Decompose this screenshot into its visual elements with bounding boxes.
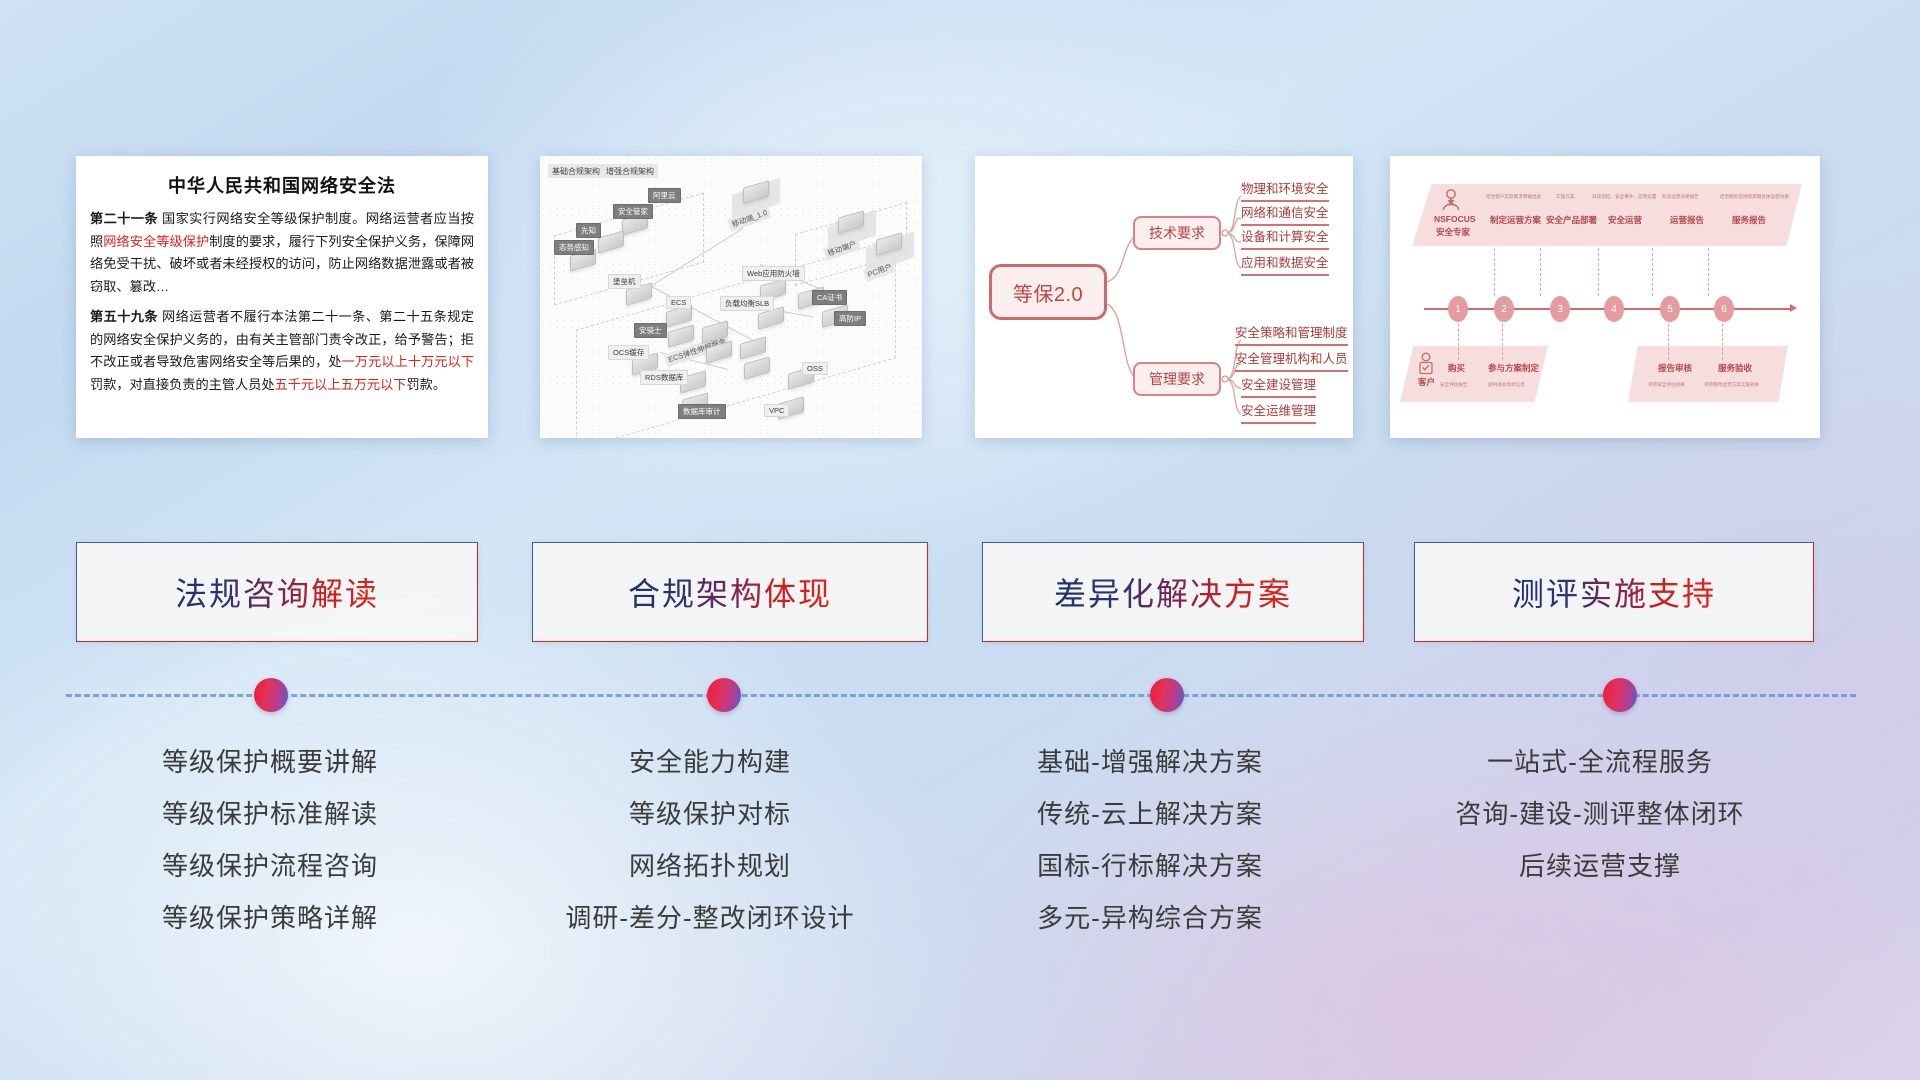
nsfocus-step-dot-6[interactable]: 6 — [1714, 296, 1734, 322]
slide-canvas: 中华人民共和国网络安全法 第二十一条 国家实行网络安全等级保护制度。网络运营者应… — [0, 0, 1920, 1080]
list-item: 安全能力构建 — [500, 736, 920, 788]
law-run-2d-highlight: 五千元以上五万元以下 — [275, 377, 407, 392]
mindmap-card[interactable]: 等保2.0 技术要求 管理要求 物理和环境安全 网络和通信安全 设备和计算安全 … — [975, 156, 1353, 438]
nsfocus-top-title-1: 制定运营方案 — [1490, 214, 1541, 226]
list-item: 咨询-建设-测评整体闭环 — [1380, 788, 1820, 840]
timeline-dot-3[interactable] — [1150, 678, 1184, 712]
nsfocus-customer-band-right — [1628, 346, 1788, 402]
nsfocus-provider-role: 安全专家 — [1436, 226, 1470, 238]
nsfocus-stem-top-5 — [1708, 248, 1709, 296]
architecture-diagram: 基础合规架构 增强合规架构 移动端_1.0 移动端户 — [540, 156, 922, 438]
mindmap-branch-technical: 技术要求 — [1133, 216, 1221, 250]
header-label-2: 合规架构体现 — [628, 569, 832, 615]
security-expert-icon — [1440, 188, 1462, 212]
nsfocus-top-sub-3: 日常巡检、安全事件、应用处置 — [1592, 194, 1656, 200]
nsfocus-top-title-4: 运营报告 — [1670, 214, 1704, 226]
mindmap-leaf-tech-2: 网络和通信安全 — [1241, 206, 1329, 226]
nsfocus-bottom-sub-4: 评审整改运营方案实施效果 — [1704, 382, 1759, 388]
timeline-dot-2[interactable] — [707, 678, 741, 712]
nsfocus-stem-bottom-2 — [1502, 324, 1503, 360]
arch-node-waf: Web应用防火墙 — [742, 266, 805, 281]
nsfocus-step-dot-4[interactable]: 4 — [1604, 296, 1624, 322]
law-run-2e: 罚款。 — [407, 377, 447, 392]
mindmap-leaf-tech-4: 应用和数据安全 — [1241, 256, 1329, 276]
list-item: 等级保护策略详解 — [60, 892, 480, 944]
list-item: 等级保护流程咨询 — [60, 840, 480, 892]
nsfocus-provider-name: NSFOCUS — [1434, 214, 1476, 224]
list-item: 一站式-全流程服务 — [1380, 736, 1820, 788]
feature-column-2: 安全能力构建 等级保护对标 网络拓扑规划 调研-差分-整改闭环设计 — [500, 736, 920, 944]
timeline-strip — [0, 668, 1920, 728]
arch-node-highdefip: 高防IP — [834, 311, 866, 326]
nsfocus-bottom-title-3: 报告审核 — [1658, 362, 1692, 374]
nsfocus-stem-bottom-1 — [1458, 324, 1459, 360]
law-card[interactable]: 中华人民共和国网络安全法 第二十一条 国家实行网络安全等级保护制度。网络运营者应… — [76, 156, 488, 438]
list-item: 调研-差分-整改闭环设计 — [500, 892, 920, 944]
nsfocus-bottom-title-2: 参与方案制定 — [1488, 362, 1539, 374]
arch-tab-enhanced[interactable]: 增强合规架构 — [602, 164, 658, 178]
nsfocus-axis-arrow — [1790, 304, 1797, 312]
feature-columns-row: 等级保护概要讲解 等级保护标准解读 等级保护流程咨询 等级保护策略详解 安全能力… — [0, 736, 1920, 1036]
law-article-1: 第二十一条 — [90, 211, 158, 226]
arch-node-rds: RDS数据库 — [640, 370, 688, 385]
nsfocus-top-sub-1: 结合客户实际需求明确出具 — [1486, 194, 1541, 200]
timeline-dot-1[interactable] — [254, 678, 288, 712]
nsfocus-bottom-sub-1: 安全评估报告 — [1440, 382, 1468, 388]
arch-node-situation: 态势感知 — [554, 240, 594, 255]
section-headers-row: 法规咨询解读 合规架构体现 差异化解决方案 测评实施支持 — [0, 542, 1920, 646]
list-item: 后续运营支撑 — [1380, 840, 1820, 892]
nsfocus-bottom-title-1: 购买 — [1448, 362, 1465, 374]
feature-column-4: 一站式-全流程服务 咨询-建设-测评整体闭环 后续运营支撑 — [1380, 736, 1820, 892]
nsfocus-stem-top-2 — [1540, 248, 1541, 296]
law-article-2: 第五十九条 — [90, 309, 158, 324]
feature-column-3: 基础-增强解决方案 传统-云上解决方案 国标-行标解决方案 多元-异构综合方案 — [940, 736, 1360, 944]
header-box-compliance-architecture[interactable]: 合规架构体现 — [532, 542, 928, 642]
nsfocus-top-sub-5: 结合服务范围等周期总体运营效果 — [1720, 194, 1789, 200]
list-item: 等级保护对标 — [500, 788, 920, 840]
mindmap-diagram: 等保2.0 技术要求 管理要求 物理和环境安全 网络和通信安全 设备和计算安全 … — [975, 156, 1353, 438]
nsfocus-bottom-title-4: 服务验收 — [1718, 362, 1752, 374]
mindmap-leaf-mgmt-4: 安全运维管理 — [1241, 404, 1316, 424]
nsfocus-top-title-2: 安全产品部署 — [1546, 214, 1597, 226]
law-run-1b-highlight: 网络安全等级保护 — [103, 234, 209, 249]
header-box-differentiated-solution[interactable]: 差异化解决方案 — [982, 542, 1364, 642]
nsfocus-stem-top-3 — [1598, 248, 1599, 296]
nsfocus-step-dot-2[interactable]: 2 — [1494, 296, 1514, 322]
header-label-3: 差异化解决方案 — [1054, 569, 1292, 615]
nsfocus-customer-role: 客户 — [1418, 376, 1435, 388]
mindmap-branch-management: 管理要求 — [1133, 362, 1221, 396]
list-item: 基础-增强解决方案 — [940, 736, 1360, 788]
nsfocus-bottom-sub-3: 评审安全评估效果 — [1648, 382, 1685, 388]
arch-node-xianzhi: 先知 — [576, 223, 601, 238]
law-card-body: 第二十一条 国家实行网络安全等级保护制度。网络运营者应当按照网络安全等级保护制度… — [76, 208, 488, 397]
list-item: 等级保护标准解读 — [60, 788, 480, 840]
screenshot-cards-row: 中华人民共和国网络安全法 第二十一条 国家实行网络安全等级保护制度。网络运营者应… — [0, 148, 1920, 438]
mindmap-leaf-tech-1: 物理和环境安全 — [1241, 182, 1329, 202]
mindmap-leaf-mgmt-2: 安全管理机构和人员 — [1235, 352, 1348, 372]
list-item: 多元-异构综合方案 — [940, 892, 1360, 944]
arch-node-dbaudit: 数据库审计 — [678, 404, 726, 419]
list-item: 网络拓扑规划 — [500, 840, 920, 892]
architecture-card[interactable]: 基础合规架构 增强合规架构 移动端_1.0 移动端户 — [540, 156, 922, 438]
feature-column-1: 等级保护概要讲解 等级保护标准解读 等级保护流程咨询 等级保护策略详解 — [60, 736, 480, 944]
nsfocus-top-title-5: 服务报告 — [1732, 214, 1766, 226]
arch-node-bastion: 堡垒机 — [608, 274, 641, 289]
nsfocus-bottom-sub-2: 提供基本现状信息 — [1488, 382, 1525, 388]
arch-node-slb: 负载均衡SLB — [720, 296, 774, 311]
arch-node-aliyun: 阿里云 — [648, 188, 681, 203]
list-item: 国标-行标解决方案 — [940, 840, 1360, 892]
nsfocus-stem-top-4 — [1652, 248, 1653, 296]
header-label-1: 法规咨询解读 — [175, 569, 379, 615]
timeline-dashed-line — [66, 694, 1856, 697]
header-box-regulation-consulting[interactable]: 法规咨询解读 — [76, 542, 478, 642]
mindmap-leaf-tech-3: 设备和计算安全 — [1241, 230, 1329, 250]
nsfocus-top-title-3: 安全运营 — [1608, 214, 1642, 226]
list-item: 等级保护概要讲解 — [60, 736, 480, 788]
nsfocus-step-dot-3[interactable]: 3 — [1550, 296, 1570, 322]
nsfocus-step-dot-5[interactable]: 5 — [1660, 296, 1680, 322]
nsfocus-timeline-card[interactable]: NSFOCUS 安全专家 结合客户实际需求明确出具 制定运营方案 实施方案 安全… — [1390, 156, 1820, 438]
arch-node-oss: OSS — [802, 362, 828, 375]
law-paragraph-2: 第五十九条 网络运营者不履行本法第二十一条、第二十五条规定的网络安全保护义务的，… — [90, 306, 474, 397]
mindmap-leaf-mgmt-1: 安全策略和管理制度 — [1235, 326, 1348, 346]
arch-tab-basic[interactable]: 基础合规架构 — [548, 164, 604, 178]
header-label-4: 测评实施支持 — [1512, 569, 1716, 615]
arch-node-ecs: ECS — [666, 296, 691, 309]
nsfocus-stem-bottom-4 — [1722, 324, 1723, 360]
arch-node-guard: 安全管家 — [613, 204, 653, 219]
law-run-2c: 罚款，对直接负责的主管人员处 — [90, 377, 275, 392]
header-box-assessment-support[interactable]: 测评实施支持 — [1414, 542, 1814, 642]
list-item: 传统-云上解决方案 — [940, 788, 1360, 840]
mindmap-leaf-mgmt-3: 安全建设管理 — [1241, 378, 1316, 398]
arch-node-anqishi: 安骑士 — [634, 323, 667, 338]
law-paragraph-1: 第二十一条 国家实行网络安全等级保护制度。网络运营者应当按照网络安全等级保护制度… — [90, 208, 474, 299]
arch-node-ocs: OCS缓存 — [608, 345, 649, 360]
nsfocus-top-sub-2: 实施方案 — [1556, 194, 1574, 200]
nsfocus-timeline-diagram: NSFOCUS 安全专家 结合客户实际需求明确出具 制定运营方案 实施方案 安全… — [1390, 156, 1820, 438]
mindmap-root-node: 等保2.0 — [989, 264, 1107, 320]
customer-icon — [1416, 352, 1436, 376]
nsfocus-stem-top-1 — [1494, 248, 1495, 296]
nsfocus-step-dot-1[interactable]: 1 — [1448, 296, 1468, 322]
arch-node-ca: CA证书 — [812, 290, 847, 305]
timeline-dot-4[interactable] — [1603, 678, 1637, 712]
arch-node-vpc: VPC — [764, 404, 789, 417]
law-run-2b-highlight: 一万元以上十万元以下 — [342, 354, 474, 369]
nsfocus-top-sub-4: 阶段运营效果报告 — [1662, 194, 1699, 200]
nsfocus-stem-bottom-3 — [1668, 324, 1669, 360]
law-card-title: 中华人民共和国网络安全法 — [76, 172, 488, 198]
